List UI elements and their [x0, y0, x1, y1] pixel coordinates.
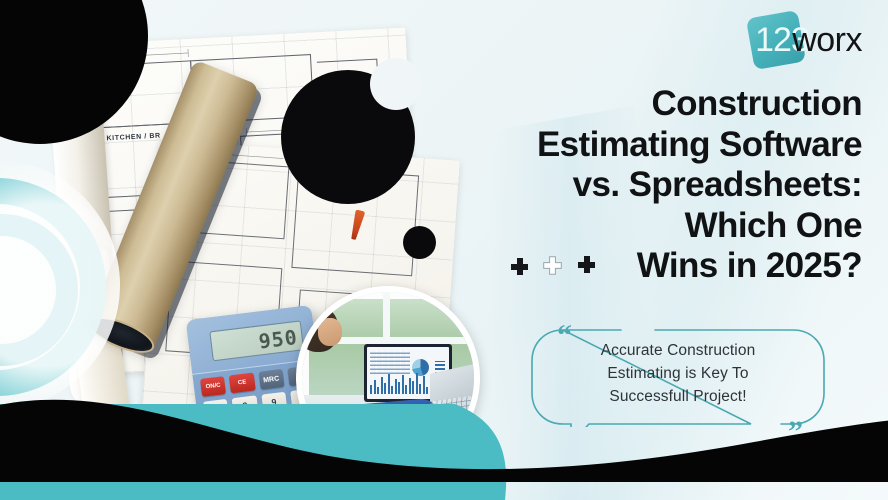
- calculator-display-value: 950: [257, 325, 299, 354]
- decor-plus-outline-icon: [543, 256, 562, 275]
- headline-line-5: Wins in 2025?: [442, 246, 862, 287]
- quote-close-mark: ”: [788, 417, 803, 447]
- quote-line-3: Successfull Project!: [519, 386, 837, 409]
- marketing-banner: KITCHEN / BR PLAN OF MECHANICAL INSULATI…: [0, 0, 888, 500]
- decor-plus-icon: [578, 256, 595, 273]
- headline-line-2: Estimating Software: [442, 125, 862, 166]
- photo-spreadsheet-grid: [370, 350, 410, 374]
- photo-person-face: [318, 318, 342, 346]
- decor-circle-notch: [370, 58, 422, 110]
- quote-text: Accurate Construction Estimating is Key …: [519, 340, 837, 409]
- decor-plus-icon: [511, 258, 528, 275]
- headline-line-1: Construction: [442, 84, 862, 125]
- headline-line-4: Which One: [442, 206, 862, 247]
- quote-line-2: Estimating is Key To: [519, 363, 837, 386]
- logo-word-text: worx: [792, 21, 862, 60]
- page-title: Construction Estimating Software vs. Spr…: [442, 84, 862, 287]
- quote-callout: “ ” Accurate Construction Estimating is …: [519, 327, 837, 427]
- decor-dot-black: [403, 226, 436, 259]
- quote-line-1: Accurate Construction: [519, 340, 837, 363]
- brand-logo[interactable]: 123 worx: [750, 12, 862, 68]
- headline-line-3: vs. Spreadsheets:: [442, 165, 862, 206]
- calculator-key: MRC: [258, 369, 284, 390]
